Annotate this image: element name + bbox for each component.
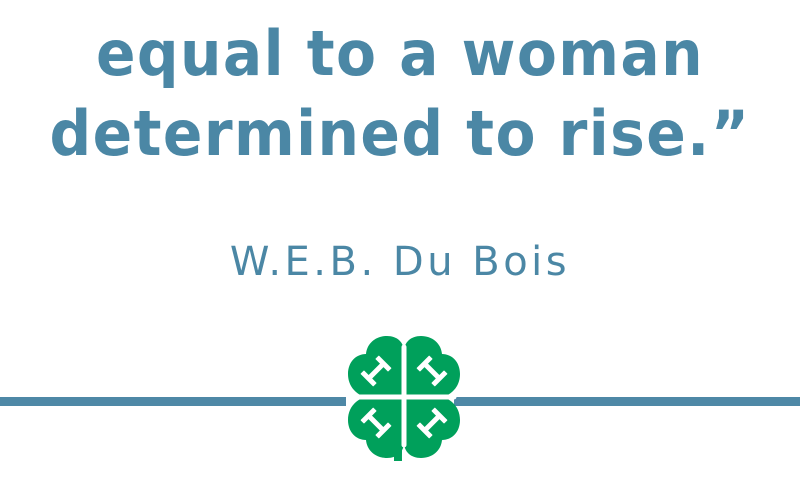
four-h-clover-icon: 18 USC 707 — [342, 333, 466, 465]
quote-block: equal to a woman determined to rise.” — [0, 14, 800, 174]
divider-rule-left — [0, 397, 346, 406]
quote-card: equal to a woman determined to rise.” W.… — [0, 0, 800, 490]
four-h-clover-logo: 18 USC 707 — [342, 333, 466, 465]
quote-line-2: determined to rise.” — [24, 94, 776, 174]
quote-line-1: equal to a woman — [24, 14, 776, 94]
divider-rule-right — [454, 397, 800, 406]
quote-attribution: W.E.B. Du Bois — [0, 238, 800, 286]
